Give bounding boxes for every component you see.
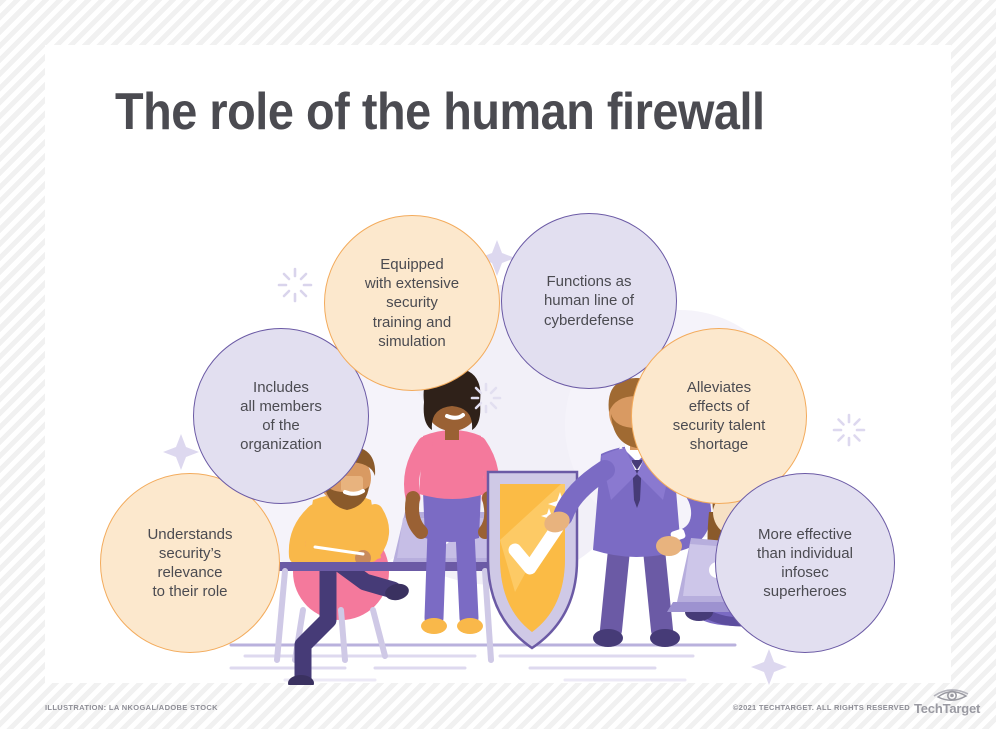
bubble-line: training and [365,313,459,332]
figure-standing-woman-pink [412,368,492,634]
bubble-line: security [365,293,459,312]
bubble-line: Functions as [544,272,634,291]
bubble-line: Alleviates [673,378,766,397]
ornament-sunburst-center [472,384,500,412]
illustration-stage: Understands security’s relevance to thei… [45,140,951,685]
page-title: The role of the human firewall [115,85,835,140]
bubble-line: simulation [365,332,459,351]
bubble-line: relevance [147,563,232,582]
techtarget-wordmark: TechTarget [914,701,980,716]
bubble-line: of the [240,416,322,435]
bubble-line: than individual [757,544,853,563]
bubble-line: cyberdefense [544,311,634,330]
bubble-line: security talent [673,416,766,435]
bubble-line: with extensive [365,274,459,293]
bubble-line: Equipped [365,255,459,274]
bubble-more-effective-than-superheroes[interactable]: More effective than individual infosec s… [715,473,895,653]
copyright-notice: ©2021 TECHTARGET. ALL RIGHTS RESERVED [733,703,910,712]
bubble-equipped-with-training[interactable]: Equipped with extensive security trainin… [324,215,500,391]
bubble-line: security’s [147,544,232,563]
infographic-canvas: The role of the human firewall [0,0,996,729]
bubble-line: human line of [544,291,634,310]
bubble-line: to their role [147,582,232,601]
bubble-line: infosec [757,563,853,582]
illustration-credit: ILLUSTRATION: LA NKOGAL/ADOBE STOCK [45,703,218,712]
ornament-sunburst-left [279,269,311,301]
bubble-line: shortage [673,435,766,454]
ornament-sunburst-right [834,415,864,445]
content-card: The role of the human firewall [45,45,951,683]
bubble-line: effects of [673,397,766,416]
bubble-understands-security-relevance[interactable]: Understands security’s relevance to thei… [100,473,280,653]
bubble-line: superheroes [757,582,853,601]
eye-icon [928,684,996,702]
bubble-line: Includes [240,378,322,397]
bubble-line: Understands [147,525,232,544]
bubble-line: all members [240,397,322,416]
bubble-line: organization [240,435,322,454]
bubble-line: More effective [757,525,853,544]
techtarget-logo: TechTarget [914,686,984,720]
